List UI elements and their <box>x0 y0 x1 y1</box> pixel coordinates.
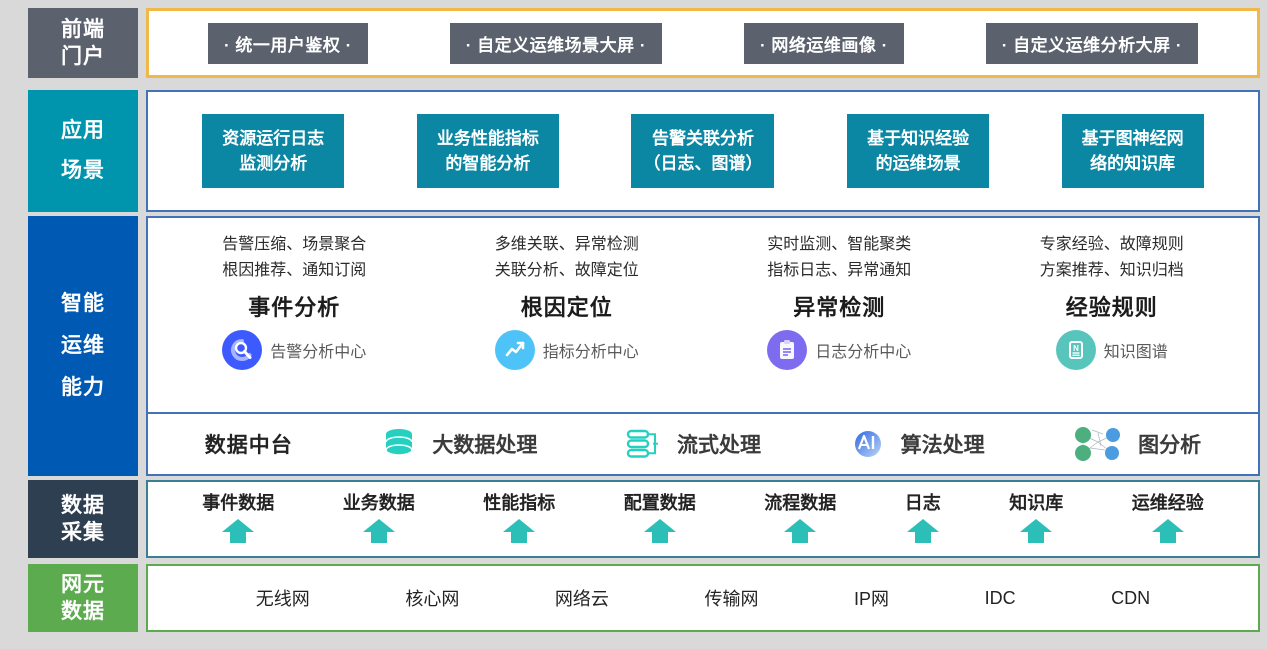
architecture-diagram: 前端 门户 · 统一用户鉴权 · · 自定义运维场景大屏 · · 网络运维画像 … <box>0 0 1267 649</box>
data-platform-item-label: 算法处理 <box>901 429 985 459</box>
layer-label-line: 智能 <box>61 283 105 325</box>
svg-text:N: N <box>1073 344 1079 353</box>
aiops-capability-content: 告警压缩、场景聚合 根因推荐、通知订阅 事件分析 告警分析中心 <box>146 216 1260 414</box>
collection-item-label: 配置数据 <box>624 489 696 515</box>
capability-title: 异常检测 <box>793 290 885 322</box>
data-platform-item-graph[interactable]: 图分析 <box>1070 425 1201 463</box>
portal-chip[interactable]: · 统一用户鉴权 · <box>208 23 368 64</box>
capability-feature-line: 告警压缩、场景聚合 <box>222 232 366 258</box>
layer-label-network-element-data: 网元 数据 <box>28 564 138 632</box>
log-analysis-icon <box>767 330 807 370</box>
network-element-item[interactable]: 无线网 <box>256 585 310 611</box>
data-platform-item-label: 大数据处理 <box>432 429 537 459</box>
capability-block-anomaly-detection: 实时监测、智能聚类 指标日志、异常通知 异常检测 <box>712 232 967 370</box>
layer-front-portal: 前端 门户 · 统一用户鉴权 · · 自定义运维场景大屏 · · 网络运维画像 … <box>28 8 1260 78</box>
data-platform-title: 数据中台 <box>205 429 293 459</box>
front-portal-content: · 统一用户鉴权 · · 自定义运维场景大屏 · · 网络运维画像 · · 自定… <box>146 8 1260 78</box>
stream-icon <box>623 425 665 463</box>
capability-center-name: 指标分析中心 <box>543 338 639 362</box>
capability-feature-line: 根因推荐、通知订阅 <box>222 258 366 284</box>
collection-item-label: 运维经验 <box>1132 489 1204 515</box>
layer-aiops-capability: 智能 运维 能力 告警压缩、场景聚合 根因推荐、通知订阅 事件分析 <box>28 216 1260 476</box>
alert-analysis-icon <box>222 330 262 370</box>
portal-chip[interactable]: · 网络运维画像 · <box>744 23 904 64</box>
data-collection-content: 事件数据 业务数据 性能指标 配置数据 流程数据 日志 <box>146 480 1260 558</box>
collection-item[interactable]: 事件数据 <box>202 489 274 549</box>
collection-item-label: 性能指标 <box>483 489 555 515</box>
layer-application-scenarios: 应用 场景 资源运行日志 监测分析 业务性能指标 的智能分析 告警关联分析 （日… <box>28 90 1260 212</box>
data-platform-item-stream[interactable]: 流式处理 <box>623 425 761 463</box>
collection-item-label: 流程数据 <box>764 489 836 515</box>
application-scenarios-content: 资源运行日志 监测分析 业务性能指标 的智能分析 告警关联分析 （日志、图谱） … <box>146 90 1260 212</box>
capability-feature-line: 专家经验、故障规则 <box>1040 232 1184 258</box>
capability-block-experience-rules: 专家经验、故障规则 方案推荐、知识归档 经验规则 N 知识图谱 <box>984 232 1239 370</box>
collection-item[interactable]: 运维经验 <box>1132 489 1204 549</box>
data-platform-item-algorithm[interactable]: 算法处理 <box>847 425 985 463</box>
capability-feature-line: 关联分析、故障定位 <box>495 258 639 284</box>
up-arrow-icon <box>1018 518 1054 549</box>
network-element-item[interactable]: IDC <box>985 588 1016 609</box>
layer-label-line: 应用 <box>61 111 105 151</box>
data-platform-item-bigdata[interactable]: 大数据处理 <box>378 425 537 463</box>
layer-label-line: 运维 <box>61 325 105 367</box>
layer-label-data-collection: 数据 采集 <box>28 480 138 558</box>
knowledge-graph-icon: N <box>1056 330 1096 370</box>
capability-center-name: 知识图谱 <box>1104 338 1168 362</box>
up-arrow-icon <box>1150 518 1186 549</box>
layer-data-collection: 数据 采集 事件数据 业务数据 性能指标 配置数据 流程数据 <box>28 480 1260 558</box>
scenario-card[interactable]: 告警关联分析 （日志、图谱） <box>631 114 774 188</box>
collection-item-label: 知识库 <box>1009 489 1063 515</box>
up-arrow-icon <box>220 518 256 549</box>
layer-label-line: 前端 <box>61 16 105 43</box>
capability-title: 根因定位 <box>521 290 613 322</box>
network-element-content: 无线网 核心网 网络云 传输网 IP网 IDC CDN <box>146 564 1260 632</box>
data-platform-item-label: 流式处理 <box>677 429 761 459</box>
database-icon <box>378 425 420 463</box>
collection-item[interactable]: 配置数据 <box>624 489 696 549</box>
collection-item-label: 业务数据 <box>343 489 415 515</box>
network-element-item[interactable]: IP网 <box>854 585 889 611</box>
network-element-item[interactable]: 传输网 <box>704 585 758 611</box>
capability-feature-line: 指标日志、异常通知 <box>767 258 911 284</box>
network-element-item[interactable]: CDN <box>1111 588 1150 609</box>
collection-item-label: 事件数据 <box>202 489 274 515</box>
metric-analysis-icon <box>495 330 535 370</box>
scenario-card[interactable]: 业务性能指标 的智能分析 <box>417 114 559 188</box>
data-platform-strip: 数据中台 大数据处理 <box>146 414 1260 476</box>
graph-network-icon <box>1070 425 1126 463</box>
network-element-item[interactable]: 核心网 <box>405 585 459 611</box>
capability-block-root-cause: 多维关联、异常检测 关联分析、故障定位 根因定位 指标分析中心 <box>439 232 694 370</box>
collection-item[interactable]: 业务数据 <box>343 489 415 549</box>
layer-label-line: 场景 <box>61 151 105 191</box>
scenario-card[interactable]: 基于知识经验 的运维场景 <box>847 114 989 188</box>
layer-label-application-scenarios: 应用 场景 <box>28 90 138 212</box>
up-arrow-icon <box>905 518 941 549</box>
data-platform-item-label: 图分析 <box>1138 429 1201 459</box>
layer-label-line: 网元 <box>61 571 105 598</box>
layer-label-line: 数据 <box>61 598 105 625</box>
up-arrow-icon <box>782 518 818 549</box>
capability-feature-line: 方案推荐、知识归档 <box>1040 258 1184 284</box>
layer-label-line: 门户 <box>61 43 105 70</box>
scenario-card[interactable]: 资源运行日志 监测分析 <box>202 114 344 188</box>
portal-chip[interactable]: · 自定义运维场景大屏 · <box>450 23 662 64</box>
capability-center-name: 日志分析中心 <box>815 338 911 362</box>
capability-block-event-analysis: 告警压缩、场景聚合 根因推荐、通知订阅 事件分析 告警分析中心 <box>167 232 422 370</box>
capability-title: 事件分析 <box>248 290 340 322</box>
capability-feature-line: 实时监测、智能聚类 <box>767 232 911 258</box>
collection-item-label: 日志 <box>905 489 941 515</box>
portal-chip[interactable]: · 自定义运维分析大屏 · <box>986 23 1198 64</box>
collection-item[interactable]: 日志 <box>905 489 941 549</box>
collection-item[interactable]: 知识库 <box>1009 489 1063 549</box>
layer-label-line: 采集 <box>61 519 105 546</box>
collection-item[interactable]: 流程数据 <box>764 489 836 549</box>
layer-label-line: 能力 <box>61 367 105 409</box>
capability-feature-line: 多维关联、异常检测 <box>495 232 639 258</box>
layer-label-line: 数据 <box>61 492 105 519</box>
capability-title: 经验规则 <box>1066 290 1158 322</box>
network-element-item[interactable]: 网络云 <box>555 585 609 611</box>
up-arrow-icon <box>501 518 537 549</box>
up-arrow-icon <box>642 518 678 549</box>
layer-label-aiops-capability: 智能 运维 能力 <box>28 216 138 476</box>
scenario-card[interactable]: 基于图神经网 络的知识库 <box>1062 114 1204 188</box>
layer-network-element-data: 网元 数据 无线网 核心网 网络云 传输网 IP网 IDC CDN <box>28 564 1260 632</box>
layer-label-front-portal: 前端 门户 <box>28 8 138 78</box>
capability-center-name: 告警分析中心 <box>270 338 366 362</box>
up-arrow-icon <box>361 518 397 549</box>
collection-item[interactable]: 性能指标 <box>483 489 555 549</box>
ai-icon <box>847 425 889 463</box>
